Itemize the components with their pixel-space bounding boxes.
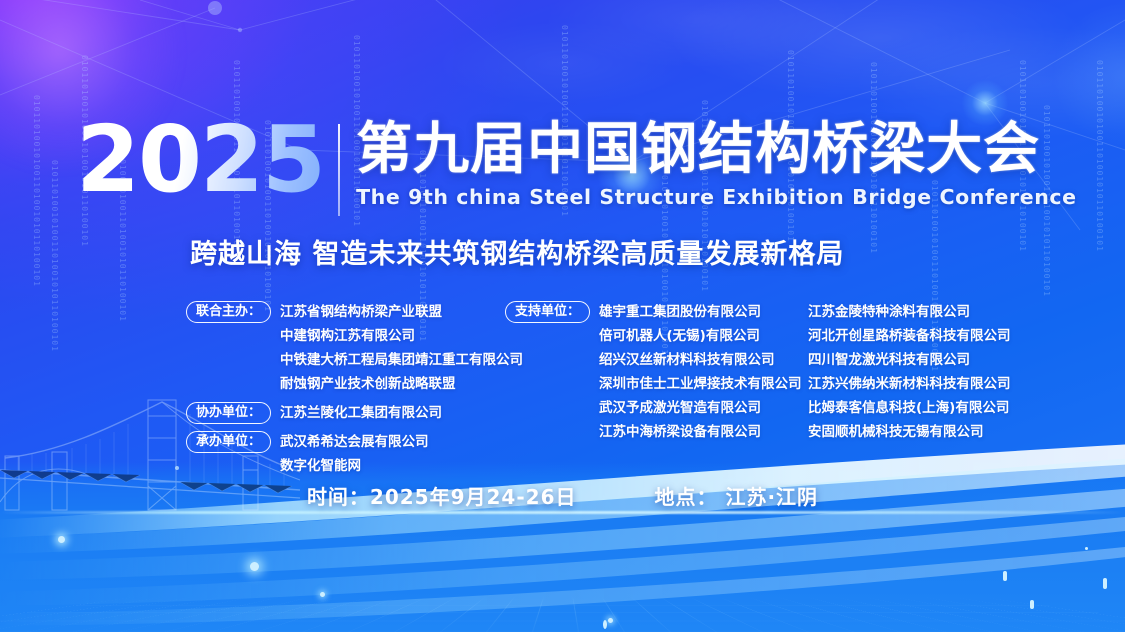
event-meta: 时间：2025年9月24-26日 地点： 江苏·江阴 bbox=[0, 483, 1125, 511]
list-item: 江苏省钢结构桥梁产业联盟 bbox=[280, 300, 523, 324]
year-number: 2025 bbox=[76, 118, 338, 202]
unit-group-supporting-organizers: 协办单位： 江苏兰陵化工集团有限公司 bbox=[186, 401, 486, 425]
unit-list: 江苏金陵特种涂料有限公司 河北开创星路桥装备科技有限公司 四川智龙激光科技有限公… bbox=[808, 300, 1048, 444]
list-item: 倍可机器人(无锡)有限公司 bbox=[599, 324, 802, 348]
list-item: 中建钢构江苏有限公司 bbox=[280, 324, 523, 348]
list-item: 江苏兰陵化工集团有限公司 bbox=[280, 401, 442, 425]
unit-pill-label: 联合主办： bbox=[186, 301, 271, 323]
list-item: 深圳市佳士工业焊接技术有限公司 bbox=[599, 372, 802, 396]
list-item: 江苏中海桥梁设备有限公司 bbox=[599, 420, 802, 444]
poster-content: 2025 第九届中国钢结构桥梁大会 The 9th china Steel St… bbox=[0, 0, 1125, 632]
title-row: 2025 第九届中国钢结构桥梁大会 The 9th china Steel St… bbox=[76, 118, 1077, 216]
unit-list: 武汉希希达会展有限公司 数字化智能网 bbox=[271, 430, 429, 478]
title-stack: 第九届中国钢结构桥梁大会 The 9th china Steel Structu… bbox=[340, 118, 1077, 210]
list-item: 雄宇重工集团股份有限公司 bbox=[599, 300, 802, 324]
unit-pill-label: 支持单位： bbox=[505, 301, 590, 323]
list-item: 江苏金陵特种涂料有限公司 bbox=[808, 300, 1048, 324]
unit-list: 江苏兰陵化工集团有限公司 bbox=[271, 401, 442, 425]
list-item: 绍兴汉丝新材料科技有限公司 bbox=[599, 348, 802, 372]
units-column-left: 联合主办： 江苏省钢结构桥梁产业联盟 中建钢构江苏有限公司 中铁建大桥工程局集团… bbox=[186, 300, 486, 478]
page-title: 第九届中国钢结构桥梁大会 bbox=[356, 118, 1077, 182]
list-item: 四川智龙激光科技有限公司 bbox=[808, 348, 1048, 372]
unit-group-co-organizers: 联合主办： 江苏省钢结构桥梁产业联盟 中建钢构江苏有限公司 中铁建大桥工程局集团… bbox=[186, 300, 486, 396]
slogan: 跨越山海 智造未来共筑钢结构桥梁高质量发展新格局 bbox=[190, 238, 844, 272]
unit-list: 江苏省钢结构桥梁产业联盟 中建钢构江苏有限公司 中铁建大桥工程局集团靖江重工有限… bbox=[271, 300, 523, 396]
event-location: 地点： 江苏·江阴 bbox=[654, 483, 818, 511]
list-item: 安固顺机械科技无锡有限公司 bbox=[808, 420, 1048, 444]
list-item: 江苏兴佛纳米新材料科技有限公司 bbox=[808, 372, 1048, 396]
list-item: 耐蚀钢产业技术创新战略联盟 bbox=[280, 372, 523, 396]
list-item: 武汉希希达会展有限公司 bbox=[280, 430, 429, 454]
conference-poster: 010110100101001101001010110100101 010110… bbox=[0, 0, 1125, 632]
list-item: 武汉予成激光智造有限公司 bbox=[599, 396, 802, 420]
units-column-right: 江苏金陵特种涂料有限公司 河北开创星路桥装备科技有限公司 四川智龙激光科技有限公… bbox=[808, 300, 1048, 444]
unit-pill-label: 协办单位： bbox=[186, 402, 271, 424]
units-column-middle: 支持单位： 雄宇重工集团股份有限公司 倍可机器人(无锡)有限公司 绍兴汉丝新材料… bbox=[505, 300, 795, 444]
list-item: 数字化智能网 bbox=[280, 454, 429, 478]
list-item: 河北开创星路桥装备科技有限公司 bbox=[808, 324, 1048, 348]
list-item: 中铁建大桥工程局集团靖江重工有限公司 bbox=[280, 348, 523, 372]
event-date: 时间：2025年9月24-26日 bbox=[307, 483, 577, 511]
list-item: 比姆泰客信息科技(上海)有限公司 bbox=[808, 396, 1048, 420]
unit-group-host-organizers: 承办单位： 武汉希希达会展有限公司 数字化智能网 bbox=[186, 430, 486, 478]
unit-group-sponsors: 支持单位： 雄宇重工集团股份有限公司 倍可机器人(无锡)有限公司 绍兴汉丝新材料… bbox=[505, 300, 795, 444]
page-subtitle: The 9th china Steel Structure Exhibition… bbox=[356, 184, 1077, 210]
unit-list: 雄宇重工集团股份有限公司 倍可机器人(无锡)有限公司 绍兴汉丝新材料科技有限公司… bbox=[590, 300, 802, 444]
unit-pill-label: 承办单位： bbox=[186, 431, 271, 453]
